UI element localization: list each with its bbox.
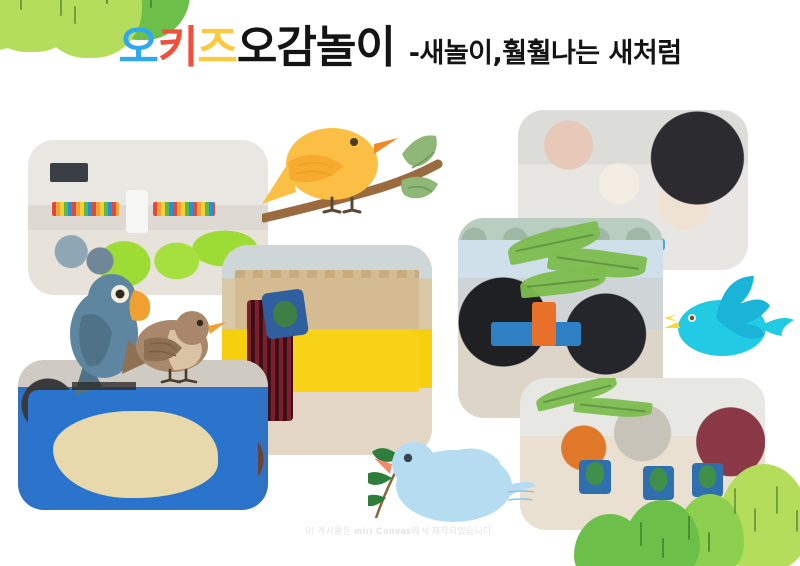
olive-stem	[376, 460, 402, 518]
poster-canvas: 오키즈오감놀이 -새놀이,훨훨나는 새처럼	[0, 0, 800, 566]
foliage-stroke	[20, 0, 22, 10]
foliage-stroke	[776, 486, 778, 514]
poster-subtitle: -새놀이,훨훨나는 새처럼	[409, 31, 682, 70]
cyanbird-beak-lower	[664, 322, 680, 328]
wing-line	[296, 171, 332, 176]
wing-line	[298, 162, 332, 168]
photo-detail-leaf	[573, 395, 653, 420]
foliage-stroke	[106, 0, 108, 4]
cyanbird-wing	[716, 276, 770, 339]
poster-title: 오키즈오감놀이 -새놀이,훨훨나는 새처럼	[0, 26, 800, 70]
cyan-flying-bird	[664, 270, 794, 366]
photo-detail-cape	[643, 466, 675, 499]
photo-detail-orange-apron	[532, 302, 557, 346]
photo-detail-cape	[692, 463, 724, 496]
photo-detail-cape	[579, 460, 611, 493]
leaf-shape	[402, 135, 437, 166]
bird-leg	[344, 198, 360, 212]
photo-cape-dance	[520, 378, 765, 530]
bird-body	[286, 128, 378, 200]
leaf-shape	[401, 177, 438, 198]
foliage-stroke	[74, 6, 76, 24]
wing-line	[150, 343, 176, 350]
foliage-stroke	[150, 0, 152, 8]
photo-detail-bookshelf	[153, 202, 215, 216]
foliage-stroke	[60, 0, 62, 16]
leaf-vein	[412, 152, 434, 168]
branch-shape	[264, 164, 438, 218]
photo-sand-play	[18, 360, 268, 510]
wing-line	[148, 352, 176, 357]
olive-leaf	[368, 472, 392, 485]
photo-detail-leaf	[518, 266, 606, 299]
bird-beak	[374, 138, 398, 154]
photo-detail-monitor	[50, 163, 88, 182]
yellow-bird-on-branch	[262, 108, 462, 228]
photo-detail-air-purifier	[126, 190, 148, 233]
cyanbird-body	[678, 300, 766, 356]
miricanvas-watermark: 이 게시물은 miri Canvas에서 제작되었습니다.	[0, 524, 800, 537]
photo-detail-bookshelf	[52, 202, 119, 216]
foliage-stroke	[662, 538, 664, 558]
parrot-wing	[79, 314, 112, 366]
sparrow-head	[175, 311, 209, 345]
bird-eye	[350, 138, 358, 146]
title-char-z: 즈	[197, 22, 236, 73]
title-char-ki: 키	[158, 22, 197, 73]
cyanbird-beak	[664, 314, 678, 322]
watermark-brand: miri Canvas	[354, 526, 412, 536]
photo-detail-cape	[261, 288, 309, 340]
watermark-suffix: 에서 제작되었습니다.	[412, 526, 495, 536]
olive-leaf	[368, 495, 386, 506]
sparrow-eye	[197, 320, 203, 326]
dove-eye	[404, 454, 412, 462]
dove-body	[396, 450, 512, 522]
title-char-o: 오	[118, 22, 157, 73]
bird-wing	[288, 155, 344, 182]
cyanbird-eye	[688, 314, 696, 322]
dove-beak	[374, 458, 392, 474]
leaf-vein	[408, 187, 432, 192]
watermark-prefix: 이 게시물은	[306, 526, 355, 536]
photo-detail-sand	[53, 411, 218, 498]
sparrow-wing	[144, 337, 182, 361]
dove-wing	[441, 449, 500, 494]
cyanbird-pupil	[690, 316, 694, 320]
bird-leg	[324, 198, 340, 212]
title-main-text: 오키즈오감놀이	[118, 26, 394, 70]
title-rest-text: 오감놀이	[237, 22, 395, 73]
cyanbird-tail	[760, 318, 794, 336]
olive-leaf	[398, 459, 424, 471]
